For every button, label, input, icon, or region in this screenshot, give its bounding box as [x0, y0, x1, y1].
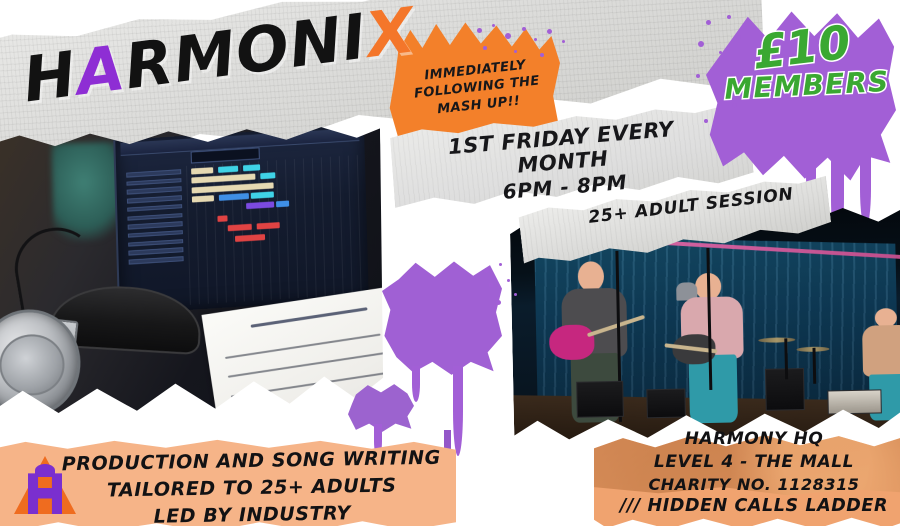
lyric-scribble — [250, 307, 368, 328]
stage-amp-mid — [647, 389, 687, 419]
daw-clip — [217, 215, 227, 222]
daw-channel-strip — [128, 221, 183, 229]
daw-clip — [192, 195, 215, 202]
daw-channel-strip — [128, 230, 183, 238]
daw-clip — [219, 165, 239, 172]
studio-photo — [0, 123, 388, 424]
daw-clip — [261, 172, 276, 179]
daw-channel-strip — [128, 213, 183, 221]
daw-clip — [252, 191, 275, 198]
daw-clip — [191, 167, 214, 174]
price-qualifier: MEMBERS — [718, 68, 895, 105]
stage-gear-right — [827, 390, 882, 415]
daw-channel-strip — [129, 247, 184, 255]
daw-channel-strip — [127, 178, 182, 186]
daw-channel-strip — [127, 169, 182, 177]
venue-name: HARMONY HQ — [604, 428, 900, 451]
daw-channel-strip — [128, 204, 183, 212]
daw-clip — [277, 201, 290, 208]
venue-block: HARMONY HQ LEVEL 4 - THE MALL CHARITY NO… — [604, 428, 900, 519]
lyric-scribble — [224, 333, 379, 358]
lyric-scribble — [233, 400, 325, 416]
daw-channel-strip — [129, 256, 184, 264]
stage-amp-left — [576, 381, 624, 418]
venue-note: /// HIDDEN CALLS LADDER — [604, 495, 900, 519]
title-letter-x: X — [363, 0, 420, 67]
lyric-scribble — [227, 351, 388, 378]
poster-canvas: IMMEDIATELY FOLLOWING THE MASH UP!! 1ST … — [0, 0, 900, 526]
description-block: PRODUCTION AND SONG WRITING TAILORED TO … — [61, 445, 443, 526]
purple-speck-cluster-center — [480, 262, 536, 332]
daw-channel-strip — [127, 186, 182, 194]
charity-number: CHARITY NO. 1128315 — [604, 474, 900, 496]
daw-clip — [243, 164, 261, 171]
daw-channel-strip — [127, 195, 182, 203]
daw-channel-strip — [129, 239, 184, 247]
title-letter-a: A — [72, 37, 129, 105]
title-letter-h: H — [20, 43, 81, 111]
venue-address: LEVEL 4 - THE MALL — [604, 451, 900, 474]
studio-headphones — [0, 278, 224, 423]
